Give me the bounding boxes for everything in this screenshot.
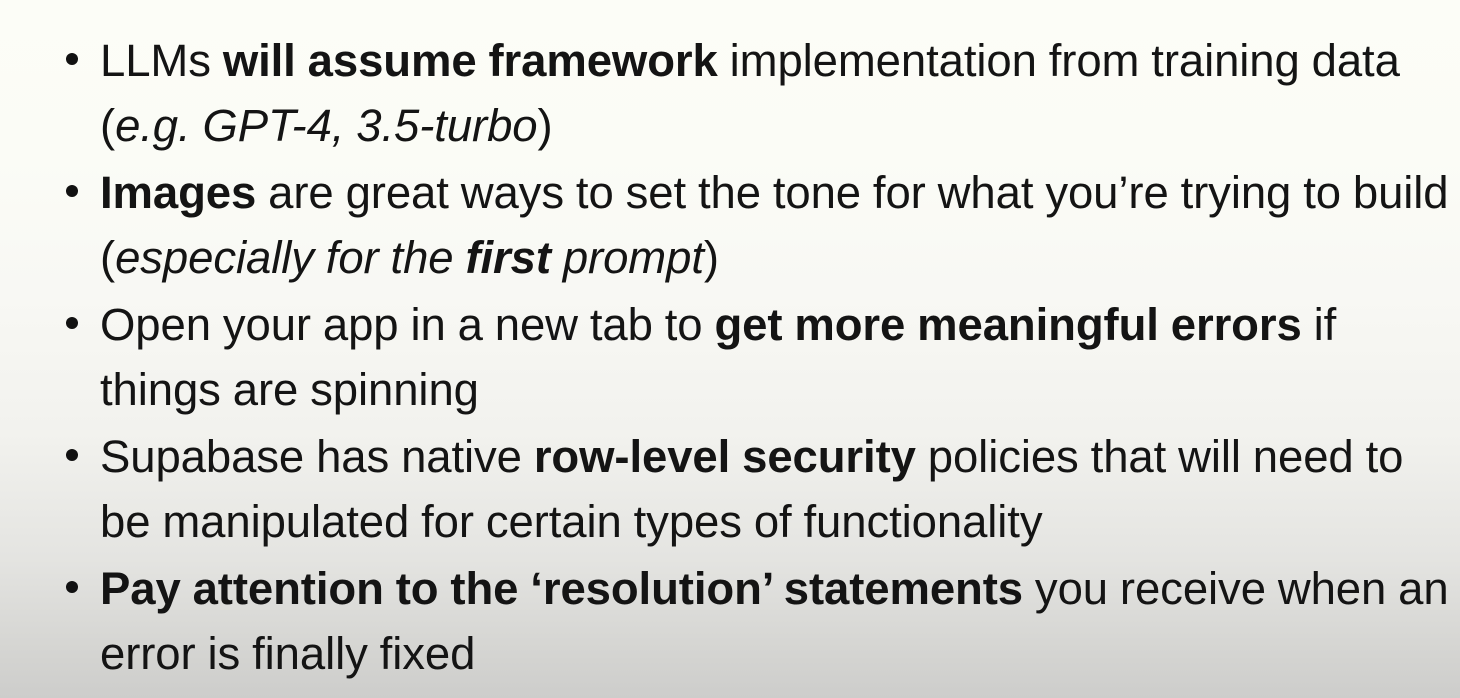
bullet-dot-icon: [66, 581, 78, 593]
text-run: first: [465, 232, 550, 283]
list-item-text: Pay attention to the ‘resolution’ statem…: [100, 556, 1450, 686]
text-run: Supabase has native: [100, 431, 534, 482]
list-item-text: Open your app in a new tab to get more m…: [100, 292, 1450, 422]
bullet-dot-icon: [66, 317, 78, 329]
text-run: Open your app in a new tab to: [100, 299, 714, 350]
text-run: LLMs: [100, 35, 223, 86]
list-item: Supabase has native row-level security p…: [0, 424, 1460, 554]
list-item: Pay attention to the ‘resolution’ statem…: [0, 556, 1460, 686]
list-item-text: LLMs will assume framework implementatio…: [100, 28, 1450, 158]
text-run: get more meaningful errors: [714, 299, 1301, 350]
text-run: ): [704, 232, 719, 283]
slide-canvas: LLMs will assume framework implementatio…: [0, 0, 1460, 698]
list-item: Open your app in a new tab to get more m…: [0, 292, 1460, 422]
list-item-text: Images are great ways to set the tone fo…: [100, 160, 1450, 290]
text-run: Images: [100, 167, 256, 218]
text-run: prompt: [551, 232, 704, 283]
text-run: ): [538, 100, 553, 151]
bullet-dot-icon: [66, 185, 78, 197]
text-run: Pay attention to the ‘resolution’ statem…: [100, 563, 1023, 614]
list-item: Images are great ways to set the tone fo…: [0, 160, 1460, 290]
text-run: row-level security: [534, 431, 916, 482]
bullet-dot-icon: [66, 53, 78, 65]
text-run: especially for the: [115, 232, 465, 283]
text-run: e.g. GPT-4, 3.5-turbo: [115, 100, 537, 151]
list-item-text: Supabase has native row-level security p…: [100, 424, 1450, 554]
bullet-list: LLMs will assume framework implementatio…: [0, 28, 1460, 688]
list-item: LLMs will assume framework implementatio…: [0, 28, 1460, 158]
text-run: will assume framework: [223, 35, 718, 86]
bullet-dot-icon: [66, 449, 78, 461]
